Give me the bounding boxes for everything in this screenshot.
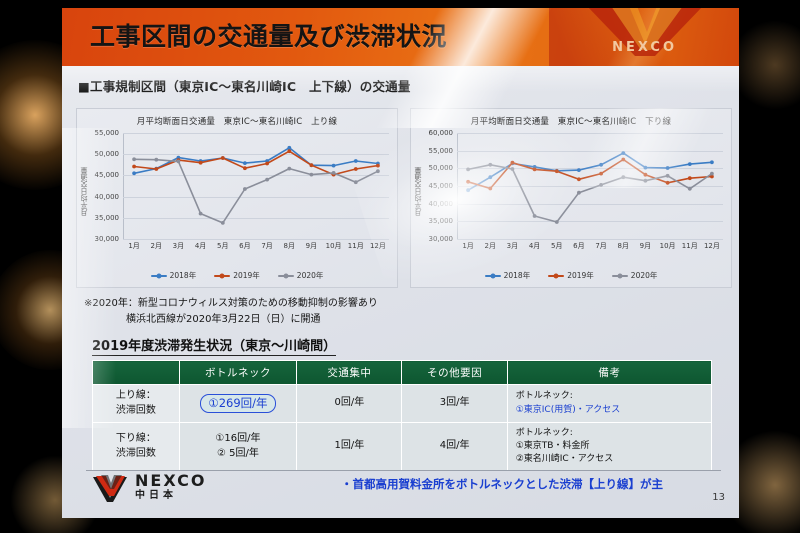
table-cell-congestion: 1回/年 <box>297 423 402 471</box>
chart-legend-item: 2020年 <box>612 270 658 281</box>
chart-legend-item: 2018年 <box>151 270 197 281</box>
chart-legend: 2018年2019年2020年 <box>411 270 731 281</box>
chart-y-tick-label: 50,000 <box>429 164 454 172</box>
footnote-line-2: 横浜北西線が2020年3月22日（日）に開通 <box>126 312 378 328</box>
chart-data-point <box>310 163 314 167</box>
chart-inbound: 月平均断面日交通量 東京IC〜東名川崎IC 上り線 月平均日交通量 30,000… <box>76 108 398 288</box>
chart-x-tick-label: 12月 <box>704 241 720 251</box>
section-subtitle: ■工事規制区間（東京IC〜東名川崎IC 上下線）の交通量 <box>78 76 411 95</box>
chart-data-point <box>265 178 269 182</box>
chart-data-point <box>199 161 203 165</box>
chart-data-point <box>599 163 603 167</box>
logo-sub: 中日本 <box>135 491 206 502</box>
legend-swatch-icon <box>612 275 628 277</box>
lens-flare-icon <box>730 20 800 110</box>
chart-x-tick-label: 8月 <box>618 241 629 251</box>
chart-x-tick-label: 11月 <box>348 241 364 251</box>
chart-gridline <box>457 239 723 240</box>
page-number: 13 <box>712 492 725 503</box>
table-header: ボトルネック交通集中その他要因備考 <box>93 361 712 385</box>
chart-legend-label: 2019年 <box>233 270 260 281</box>
chart-data-point <box>243 187 247 191</box>
chart-data-point <box>132 157 136 161</box>
chart-y-tick-label: 55,000 <box>429 147 454 155</box>
chart-data-point <box>710 160 714 164</box>
chart-data-point <box>511 167 515 171</box>
logo-name: NEXCO <box>135 473 206 490</box>
chart-data-point <box>555 169 559 173</box>
chart-data-point <box>287 146 291 150</box>
chart-x-tick-label: 2月 <box>151 241 162 251</box>
chart-y-tick-label: 30,000 <box>95 235 120 243</box>
chart-series-line <box>134 151 378 174</box>
chart-x-tick-label: 7月 <box>595 241 606 251</box>
legend-marker-icon <box>490 273 495 278</box>
chart-data-point <box>243 166 247 170</box>
chart-series-line <box>468 160 712 189</box>
chart-plot-area: 30,00035,00040,00045,00050,00055,00060,0… <box>457 133 723 239</box>
chart-x-tick-label: 5月 <box>217 241 228 251</box>
legend-swatch-icon <box>548 275 564 277</box>
table-row: 上り線： 渋滞回数①269回/年0回/年3回/年ボトルネック:①東京IC(用賀)… <box>93 385 712 423</box>
table-cell-congestion: 0回/年 <box>297 385 402 423</box>
chart-data-point <box>644 166 648 170</box>
table-column-header <box>93 361 180 385</box>
chart-y-tick-label: 35,000 <box>95 214 120 222</box>
chart-data-point <box>599 172 603 176</box>
chart-x-tick-label: 4月 <box>529 241 540 251</box>
legend-marker-icon <box>617 273 622 278</box>
chart-y-tick-label: 50,000 <box>95 150 120 158</box>
chart-data-point <box>577 168 581 172</box>
footnote: ※2020年：新型コロナウィルス対策のための移動抑制の影響あり 横浜北西線が20… <box>84 296 378 327</box>
chart-x-tick-label: 9月 <box>306 241 317 251</box>
remark-title: ボトルネック: <box>516 427 708 440</box>
chart-x-tick-label: 2月 <box>485 241 496 251</box>
chart-data-point <box>644 173 648 177</box>
chart-data-point <box>221 221 225 225</box>
chart-data-point <box>688 187 692 191</box>
chart-data-point <box>376 169 380 173</box>
chart-plot-area: 30,00035,00040,00045,00050,00055,000 1月2… <box>123 133 389 239</box>
table-body: 上り線： 渋滞回数①269回/年0回/年3回/年ボトルネック:①東京IC(用賀)… <box>93 385 712 471</box>
legend-marker-icon <box>220 273 225 278</box>
chart-data-point <box>555 220 559 224</box>
legend-marker-icon <box>283 273 288 278</box>
page-title: 工事区間の交通量及び渋滞状況 <box>90 17 447 53</box>
chart-x-tick-label: 12月 <box>370 241 386 251</box>
chart-y-tick-label: 45,000 <box>95 171 120 179</box>
legend-marker-icon <box>156 273 161 278</box>
chart-legend-item: 2018年 <box>485 270 531 281</box>
chart-data-point <box>666 166 670 170</box>
chart-gridline <box>123 239 389 240</box>
table-column-header: その他要因 <box>402 361 507 385</box>
highlighted-value: ①269回/年 <box>200 394 275 413</box>
chart-y-axis-label: 月平均日交通量 <box>79 167 89 216</box>
chart-data-point <box>688 162 692 166</box>
chart-title: 月平均断面日交通量 東京IC〜東名川崎IC 上り線 <box>77 115 397 127</box>
chart-data-point <box>599 183 603 187</box>
chart-data-point <box>533 168 537 172</box>
chart-data-point <box>511 161 515 165</box>
chart-data-point <box>666 181 670 185</box>
chart-y-tick-label: 30,000 <box>429 235 454 243</box>
brand-name-band: NEXCO <box>612 40 677 55</box>
chart-data-point <box>154 158 158 162</box>
footnote-line-1: ※2020年：新型コロナウィルス対策のための移動抑制の影響あり <box>84 296 378 312</box>
chart-data-point <box>354 180 358 184</box>
chart-data-point <box>533 214 537 218</box>
table-cell-other: 3回/年 <box>402 385 507 423</box>
chart-x-tick-label: 9月 <box>640 241 651 251</box>
chart-x-tick-label: 1月 <box>462 241 473 251</box>
legend-swatch-icon <box>151 275 167 277</box>
chart-y-tick-label: 40,000 <box>95 193 120 201</box>
chart-x-tick-label: 5月 <box>551 241 562 251</box>
chart-x-tick-label: 1月 <box>128 241 139 251</box>
chart-data-point <box>265 162 269 166</box>
logo-wordmark: NEXCO 中日本 <box>135 473 206 501</box>
chart-y-tick-label: 40,000 <box>429 200 454 208</box>
chart-legend: 2018年2019年2020年 <box>77 270 397 281</box>
chart-x-tick-label: 3月 <box>507 241 518 251</box>
chart-data-point <box>376 164 380 168</box>
table-row: 下り線： 渋滞回数①16回/年 ② 5回/年1回/年4回/年ボトルネック:①東京… <box>93 423 712 471</box>
chart-x-tick-label: 11月 <box>682 241 698 251</box>
chart-data-point <box>354 159 358 163</box>
chart-data-point <box>332 171 336 175</box>
chart-legend-item: 2019年 <box>214 270 260 281</box>
chart-data-point <box>466 188 470 192</box>
chart-data-point <box>577 177 581 181</box>
chart-title: 月平均断面日交通量 東京IC〜東名川崎IC 下り線 <box>411 115 731 127</box>
table-cell-remark: ボトルネック:①東京IC(用賀)・アクセス <box>507 385 711 423</box>
chart-x-tick-label: 7月 <box>261 241 272 251</box>
chart-series-line <box>134 159 378 223</box>
chart-data-point <box>287 149 291 153</box>
chart-x-tick-label: 10月 <box>326 241 342 251</box>
chart-data-point <box>488 163 492 167</box>
chart-legend-item: 2020年 <box>278 270 324 281</box>
table-row-header: 上り線： 渋滞回数 <box>93 385 180 423</box>
table-column-header: 交通集中 <box>297 361 402 385</box>
congestion-table: ボトルネック交通集中その他要因備考 上り線： 渋滞回数①269回/年0回/年3回… <box>92 360 712 471</box>
chart-x-tick-label: 8月 <box>284 241 295 251</box>
projected-slide-photo: 工事区間の交通量及び渋滞状況 NEXCO ■工事規制区間（東京IC〜東名川崎IC… <box>0 0 800 533</box>
chart-data-point <box>621 151 625 155</box>
slide-title-band: 工事区間の交通量及び渋滞状況 NEXCO <box>62 8 739 66</box>
chart-data-point <box>199 212 203 216</box>
chart-data-point <box>644 179 648 183</box>
legend-swatch-icon <box>485 275 501 277</box>
chart-data-point <box>221 156 225 160</box>
chart-legend-item: 2019年 <box>548 270 594 281</box>
nexco-logo: NEXCO 中日本 <box>92 472 206 502</box>
chart-x-tick-label: 4月 <box>195 241 206 251</box>
table-heading: 2019年度渋滞発生状況（東京〜川崎間） <box>92 335 336 356</box>
chart-x-tick-label: 3月 <box>173 241 184 251</box>
chart-x-tick-label: 6月 <box>239 241 250 251</box>
chart-series-line <box>468 165 712 222</box>
remark-items: ①東京IC(用賀)・アクセス <box>516 404 708 417</box>
legend-swatch-icon <box>278 275 294 277</box>
chart-data-point <box>688 176 692 180</box>
table-header-row: ボトルネック交通集中その他要因備考 <box>93 361 712 385</box>
chart-legend-label: 2019年 <box>567 270 594 281</box>
table-column-header: ボトルネック <box>179 361 297 385</box>
table-row-header: 下り線： 渋滞回数 <box>93 423 180 471</box>
chart-y-tick-label: 55,000 <box>95 129 120 137</box>
chart-data-point <box>488 187 492 191</box>
chart-y-tick-label: 45,000 <box>429 182 454 190</box>
chart-data-point <box>577 191 581 195</box>
table-cell-bottleneck: ①269回/年 <box>179 385 297 423</box>
chart-data-point <box>466 180 470 184</box>
slide-surface: 工事区間の交通量及び渋滞状況 NEXCO ■工事規制区間（東京IC〜東名川崎IC… <box>62 8 739 518</box>
chart-data-point <box>154 167 158 171</box>
chart-legend-label: 2020年 <box>297 270 324 281</box>
nexco-bird-mark-icon <box>92 472 128 502</box>
chart-y-tick-label: 35,000 <box>429 217 454 225</box>
chart-data-point <box>132 165 136 169</box>
chart-x-tick-label: 6月 <box>573 241 584 251</box>
chart-data-point <box>621 158 625 162</box>
chart-data-point <box>666 174 670 178</box>
chart-data-point <box>310 173 314 177</box>
chart-data-point <box>243 161 247 165</box>
remark-items: ①東京TB・料金所 ②東名川崎IC・アクセス <box>516 440 708 466</box>
legend-swatch-icon <box>214 275 230 277</box>
chart-outbound: 月平均断面日交通量 東京IC〜東名川崎IC 下り線 月平均日交通量 30,000… <box>410 108 732 288</box>
chart-legend-label: 2020年 <box>631 270 658 281</box>
table-cell-remark: ボトルネック:①東京TB・料金所 ②東名川崎IC・アクセス <box>507 423 711 471</box>
table-column-header: 備考 <box>507 361 711 385</box>
table-cell-other: 4回/年 <box>402 423 507 471</box>
chart-legend-label: 2018年 <box>504 270 531 281</box>
chart-series-layer <box>457 133 723 239</box>
chart-x-tick-label: 10月 <box>660 241 676 251</box>
legend-marker-icon <box>554 273 559 278</box>
table-cell-bottleneck: ①16回/年 ② 5回/年 <box>179 423 297 471</box>
chart-data-point <box>710 172 714 176</box>
chart-data-point <box>488 175 492 179</box>
chart-series-layer <box>123 133 389 239</box>
chart-data-point <box>621 175 625 179</box>
chart-data-point <box>287 167 291 171</box>
chart-data-point <box>332 164 336 168</box>
remark-title: ボトルネック: <box>516 390 708 403</box>
chart-y-tick-label: 60,000 <box>429 129 454 137</box>
chart-data-point <box>466 168 470 172</box>
chart-y-axis-label: 月平均日交通量 <box>413 167 423 216</box>
chart-data-point <box>132 171 136 175</box>
summary-bullet: ・首都高用賀料金所をボトルネックとした渋滞【上り線】が主 <box>292 476 712 492</box>
chart-data-point <box>177 160 181 164</box>
chart-data-point <box>354 167 358 171</box>
chart-legend-label: 2018年 <box>170 270 197 281</box>
